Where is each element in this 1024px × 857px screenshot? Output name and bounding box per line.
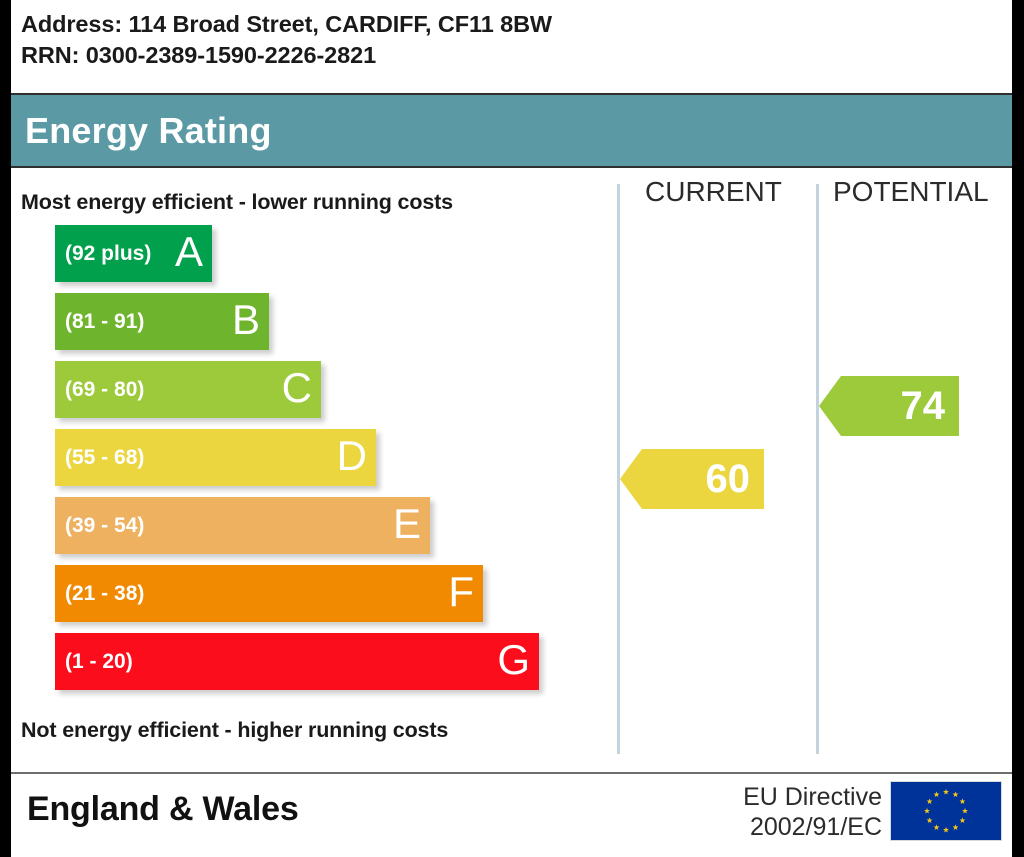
caption-most-efficient: Most energy efficient - lower running co… <box>21 190 453 215</box>
band-letter-e: E <box>393 503 421 549</box>
certificate-footer: England & Wales EU Directive 2002/91/EC <box>11 772 1012 850</box>
band-letter-d: D <box>337 435 367 481</box>
energy-rating-title-bar: Energy Rating <box>11 93 1012 168</box>
band-d: (55 - 68)D <box>55 429 376 486</box>
frame-border-left <box>0 0 11 857</box>
rrn-line: RRN: 0300-2389-1590-2226-2821 <box>21 40 1012 71</box>
eu-flag-icon <box>890 781 1002 841</box>
frame-border-right <box>1012 0 1024 857</box>
address-line: Address: 114 Broad Street, CARDIFF, CF11… <box>21 9 1012 40</box>
column-header-current: CURRENT <box>645 176 782 208</box>
band-range-b: (81 - 91) <box>65 311 144 332</box>
band-a: (92 plus)A <box>55 225 212 282</box>
band-range-d: (55 - 68) <box>65 447 144 468</box>
rating-chart: Most energy efficient - lower running co… <box>11 170 1012 768</box>
band-range-a: (92 plus) <box>65 243 151 264</box>
band-c: (69 - 80)C <box>55 361 321 418</box>
column-header-potential: POTENTIAL <box>833 176 989 208</box>
band-range-c: (69 - 80) <box>65 379 144 400</box>
divider-potential <box>816 184 819 754</box>
rating-value-potential: 74 <box>901 386 946 426</box>
band-range-g: (1 - 20) <box>65 651 133 672</box>
rating-value-current: 60 <box>706 459 751 499</box>
divider-current <box>617 184 620 754</box>
region-label: England & Wales <box>27 790 299 829</box>
band-f: (21 - 38)F <box>55 565 483 622</box>
eu-directive-line2: 2002/91/EC <box>743 812 882 842</box>
band-letter-a: A <box>175 231 203 277</box>
band-letter-c: C <box>282 367 312 413</box>
caption-not-efficient: Not energy efficient - higher running co… <box>21 718 448 743</box>
band-range-f: (21 - 38) <box>65 583 144 604</box>
eu-directive-line1: EU Directive <box>743 782 882 812</box>
band-letter-f: F <box>448 571 474 617</box>
band-b: (81 - 91)B <box>55 293 269 350</box>
rating-arrow-potential: 74 <box>819 376 959 436</box>
band-letter-b: B <box>232 299 260 345</box>
band-letter-g: G <box>497 639 530 685</box>
band-g: (1 - 20)G <box>55 633 539 690</box>
band-e: (39 - 54)E <box>55 497 430 554</box>
band-range-e: (39 - 54) <box>65 515 144 536</box>
rating-arrow-current: 60 <box>620 449 764 509</box>
epc-certificate: Address: 114 Broad Street, CARDIFF, CF11… <box>0 0 1024 857</box>
eu-directive-label: EU Directive 2002/91/EC <box>743 782 882 842</box>
page-title: Energy Rating <box>25 110 272 152</box>
address-header: Address: 114 Broad Street, CARDIFF, CF11… <box>11 0 1012 88</box>
